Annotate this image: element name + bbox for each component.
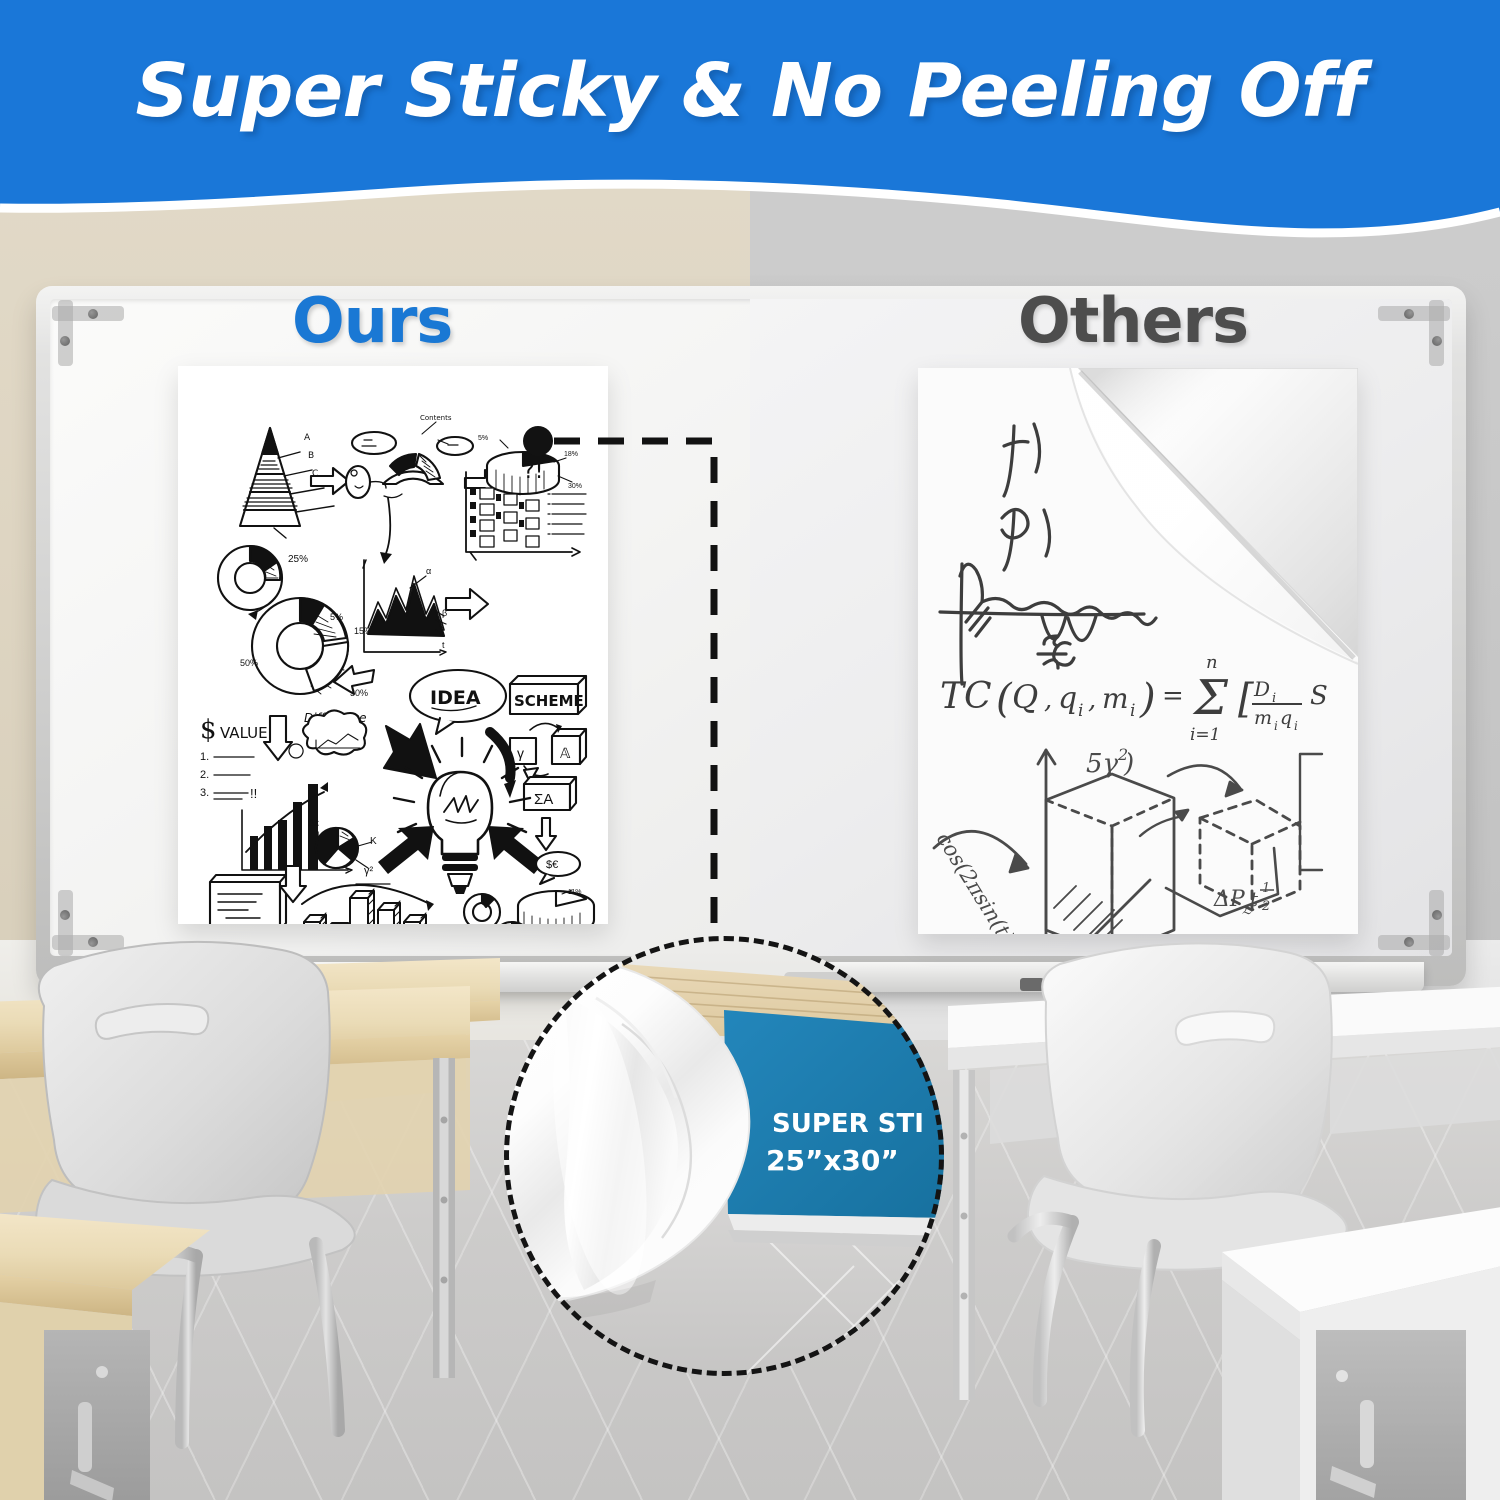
magnifier-inset: SUPER STI 25”x30” <box>504 936 944 1376</box>
product-headline: SUPER STI <box>772 1109 924 1139</box>
header-banner: Super Sticky & No Peeling Off <box>0 0 1500 260</box>
magnifier-content: SUPER STI 25”x30” <box>504 936 944 1376</box>
product-comparison-image: A B C Contents <box>0 0 1500 1500</box>
product-size-label: 25”x30” <box>766 1144 899 1177</box>
banner-title: Super Sticky & No Peeling Off <box>0 48 1500 134</box>
left-furniture-group <box>0 942 500 1500</box>
chair-handle-slot <box>1176 1011 1274 1044</box>
right-furniture-group <box>948 943 1500 1500</box>
desk-front-right <box>1222 1204 1500 1500</box>
